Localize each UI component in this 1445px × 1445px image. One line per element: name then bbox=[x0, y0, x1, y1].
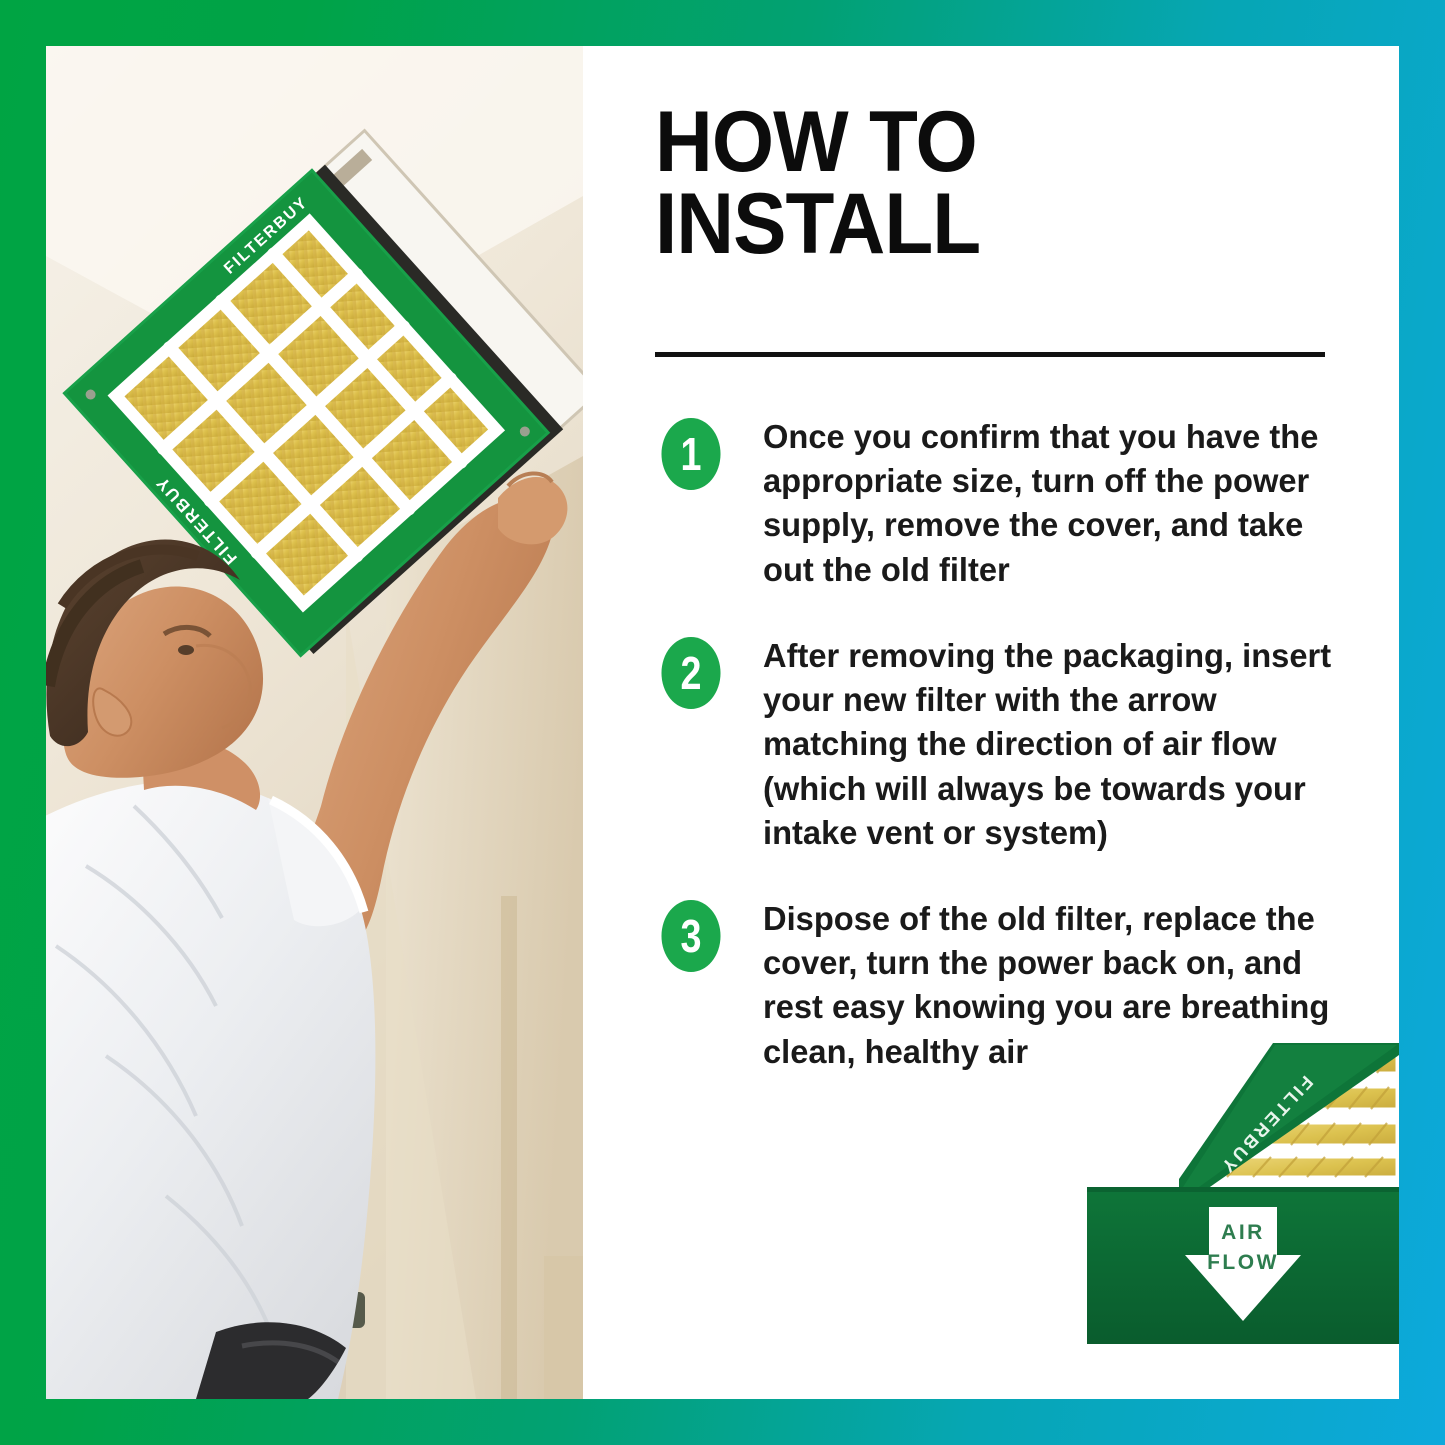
steps-list: 1 Once you confirm that you have the app… bbox=[655, 416, 1355, 1117]
step-number-badge: 2 bbox=[661, 637, 720, 709]
title-divider bbox=[655, 352, 1325, 357]
step-number-badge: 1 bbox=[661, 418, 720, 490]
list-item: 2 After removing the packaging, insert y… bbox=[655, 635, 1355, 856]
title-line-1: HOW TO bbox=[655, 102, 1306, 184]
page-title: HOW TO INSTALL bbox=[655, 102, 1306, 265]
white-canvas: FILTERBUY FILTERBUY bbox=[46, 46, 1399, 1399]
product-illustration: FILTERBUY AIR FLOW bbox=[1087, 1029, 1399, 1359]
product-filter-image: FILTERBUY AIR FLOW bbox=[1087, 1029, 1399, 1359]
installation-photo: FILTERBUY FILTERBUY bbox=[46, 46, 583, 1399]
air-flow-line-1: AIR bbox=[1221, 1221, 1265, 1244]
gradient-frame: FILTERBUY FILTERBUY bbox=[0, 0, 1445, 1445]
air-flow-line-2: FLOW bbox=[1207, 1251, 1279, 1274]
step-description: After removing the packaging, insert you… bbox=[763, 635, 1340, 856]
title-line-2: INSTALL bbox=[655, 184, 1306, 266]
step-description: Once you confirm that you have the appro… bbox=[763, 416, 1340, 593]
photo-illustration: FILTERBUY FILTERBUY bbox=[46, 46, 583, 1399]
step-number-badge: 3 bbox=[661, 900, 720, 972]
list-item: 1 Once you confirm that you have the app… bbox=[655, 416, 1355, 593]
